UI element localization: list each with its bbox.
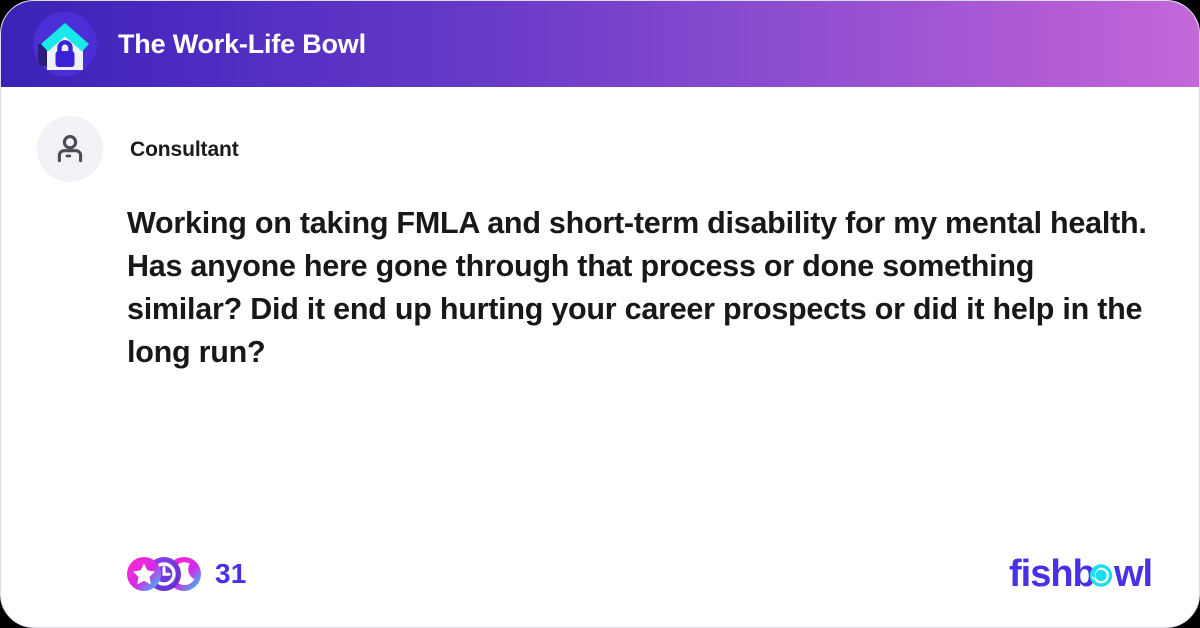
star-reaction-icon [127,557,161,591]
card-header: The Work-Life Bowl [1,1,1200,87]
fishbowl-logo: fishb wl [1009,555,1155,595]
svg-text:wl: wl [1113,553,1152,595]
post-author-row: Consultant [37,116,239,182]
card-footer: 31 fishb wl [1,509,1200,628]
reaction-summary[interactable]: 31 [127,557,247,591]
reaction-badge-stack [127,557,201,591]
person-avatar-icon [37,116,103,182]
svg-text:fishb: fishb [1009,553,1095,595]
post-author-name: Consultant [130,139,239,160]
card-body: Consultant Working on taking FMLA and sh… [1,87,1200,628]
screenshot-stage: The Work-Life Bowl Consultant Working on… [0,0,1200,628]
reaction-count: 31 [215,560,247,588]
post-body-text: Working on taking FMLA and short-term di… [127,202,1151,373]
header-title: The Work-Life Bowl [118,31,366,58]
house-lock-bowl-icon [31,10,99,78]
post-card: The Work-Life Bowl Consultant Working on… [0,0,1200,628]
